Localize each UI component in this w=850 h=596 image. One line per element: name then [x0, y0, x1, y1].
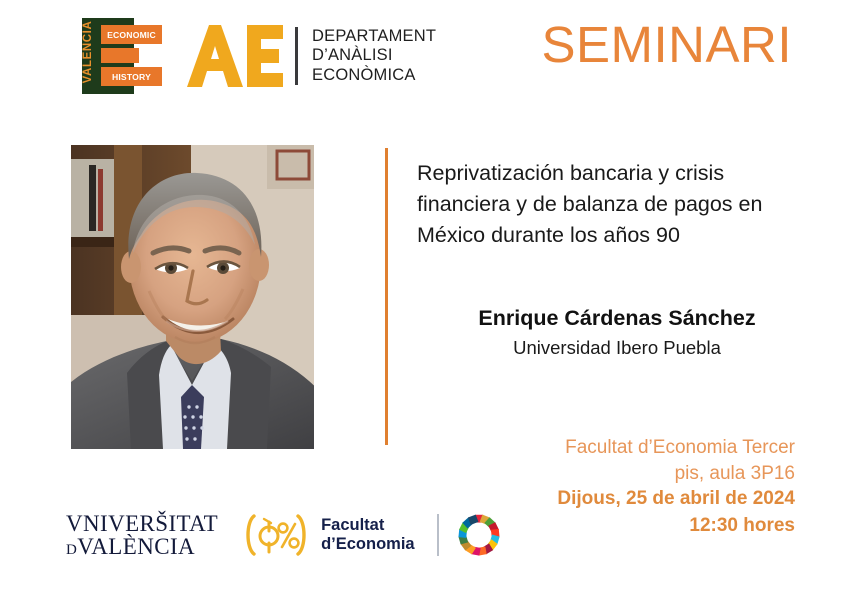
speaker-photo	[71, 145, 314, 449]
seminar-banner-title: SEMINARI	[541, 19, 792, 70]
facultat-economia-text: Facultat d’Economia	[321, 516, 415, 556]
speaker-name: Enrique Cárdenas Sánchez	[417, 305, 817, 333]
veh-economic-block: ECONOMIC	[101, 25, 162, 44]
seminar-poster: VALENCIA ECONOMIC HISTORY DEPARTAMENT D’…	[0, 0, 850, 596]
vertical-accent-rule	[385, 148, 388, 445]
event-time: 12:30 hores	[465, 513, 795, 539]
speaker-portrait-image	[71, 145, 314, 449]
venue-line-2: pis, aula 3P16	[465, 461, 795, 487]
uv-wordmark-line-2: DVALÈNCIA	[66, 535, 218, 558]
universitat-de-valencia-logo: VNIVERŠITAT DVALÈNCIA	[66, 512, 218, 559]
event-date: Dijous, 25 de abril de 2024	[465, 486, 795, 512]
header-logo-group: VALENCIA ECONOMIC HISTORY DEPARTAMENT D’…	[70, 18, 436, 94]
event-details: Facultat d’Economia Tercer pis, aula 3P1…	[465, 435, 795, 539]
ae-monogram-icon	[187, 25, 283, 87]
ae-dept-line-3: ECONÒMICA	[312, 66, 436, 85]
venue-line-1: Facultat d’Economia Tercer	[465, 435, 795, 461]
uv-wordmark-line-1: VNIVERŠITAT	[66, 512, 218, 535]
percent-bracket-icon	[240, 512, 312, 558]
speaker-affiliation: Universidad Ibero Puebla	[417, 336, 817, 360]
footer-logo-group: VNIVERŠITAT DVALÈNCIA Facultat d’Economi…	[66, 512, 502, 559]
ae-dept-line-2: D’ANÀLISI	[312, 46, 436, 65]
veh-history-block: HISTORY	[101, 67, 162, 86]
sdg-color-wheel-icon	[456, 512, 502, 558]
uv-wordmark-city: VALÈNCIA	[77, 534, 195, 559]
facultat-economia-logo: Facultat d’Economia	[240, 512, 415, 558]
footer-divider	[437, 514, 439, 556]
talk-title: Reprivatización bancaria y crisis financ…	[417, 158, 817, 251]
ae-department-name: DEPARTAMENT D’ANÀLISI ECONÒMICA	[312, 27, 436, 84]
ae-dept-line-1: DEPARTAMENT	[312, 27, 436, 46]
ae-divider	[295, 27, 298, 85]
facultat-line-1: Facultat	[321, 516, 415, 536]
analisi-economica-logo: DEPARTAMENT D’ANÀLISI ECONÒMICA	[187, 25, 436, 87]
facultat-line-2: d’Economia	[321, 535, 415, 555]
veh-middle-block	[101, 48, 139, 63]
speaker-block: Enrique Cárdenas Sánchez Universidad Ibe…	[417, 305, 817, 360]
uv-wordmark-prefix: D	[66, 542, 77, 558]
valencia-economic-history-logo: VALENCIA ECONOMIC HISTORY	[70, 18, 165, 94]
veh-valencia-label: VALENCIA	[82, 16, 94, 88]
